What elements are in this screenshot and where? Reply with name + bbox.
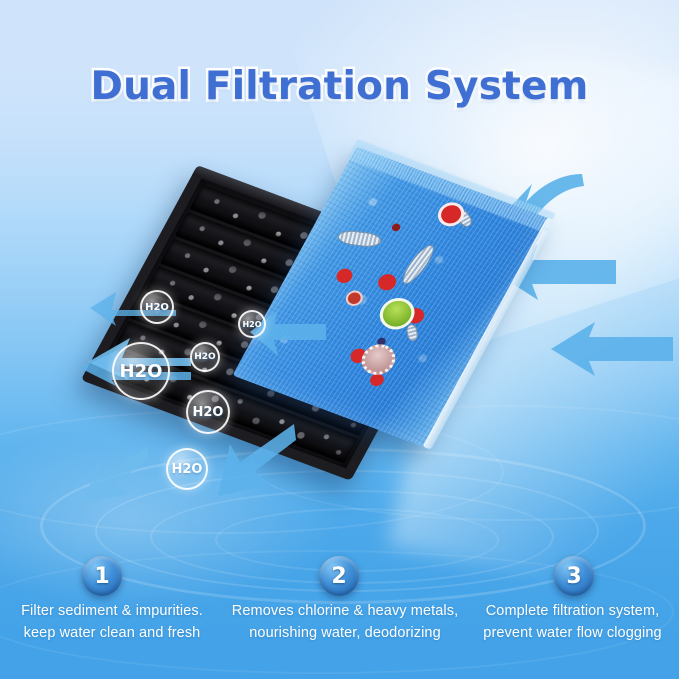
page-title: Dual Filtration System	[0, 64, 679, 109]
h2o-bubble: H2O	[112, 342, 170, 400]
step-1-line-2: keep water clean and fresh	[0, 622, 224, 644]
step-2-line-2: nourishing water, deodorizing	[224, 622, 466, 644]
h2o-bubble: H2O	[238, 310, 266, 338]
step-3-line-2: prevent water flow clogging	[466, 622, 679, 644]
h2o-bubble: H2O	[186, 390, 230, 434]
water-inflow-arrow-3	[545, 320, 675, 378]
step-text-3: Complete filtration system, prevent wate…	[466, 600, 679, 644]
steps-section: 1 2 3 Filter sediment & impurities. keep…	[0, 548, 679, 679]
step-badge-1: 1	[82, 556, 122, 596]
step-text-1: Filter sediment & impurities. keep water…	[0, 600, 224, 644]
infographic-canvas: Dual Filtration System	[0, 0, 679, 679]
h2o-bubble: H2O	[190, 342, 220, 372]
step-3-line-1: Complete filtration system,	[466, 600, 679, 622]
step-badge-2: 2	[319, 556, 359, 596]
step-1-line-1: Filter sediment & impurities.	[0, 600, 224, 622]
h2o-bubble: H2O	[166, 448, 208, 490]
filter-assembly-illustration: H2O H2O H2O H2O H2O H2O	[0, 150, 679, 510]
water-outflow-arrow-down-left	[64, 442, 150, 508]
step-badge-3: 3	[554, 556, 594, 596]
h2o-bubble: H2O	[140, 290, 174, 324]
step-2-line-1: Removes chlorine & heavy metals,	[224, 600, 466, 622]
step-text-2: Removes chlorine & heavy metals, nourish…	[224, 600, 466, 644]
